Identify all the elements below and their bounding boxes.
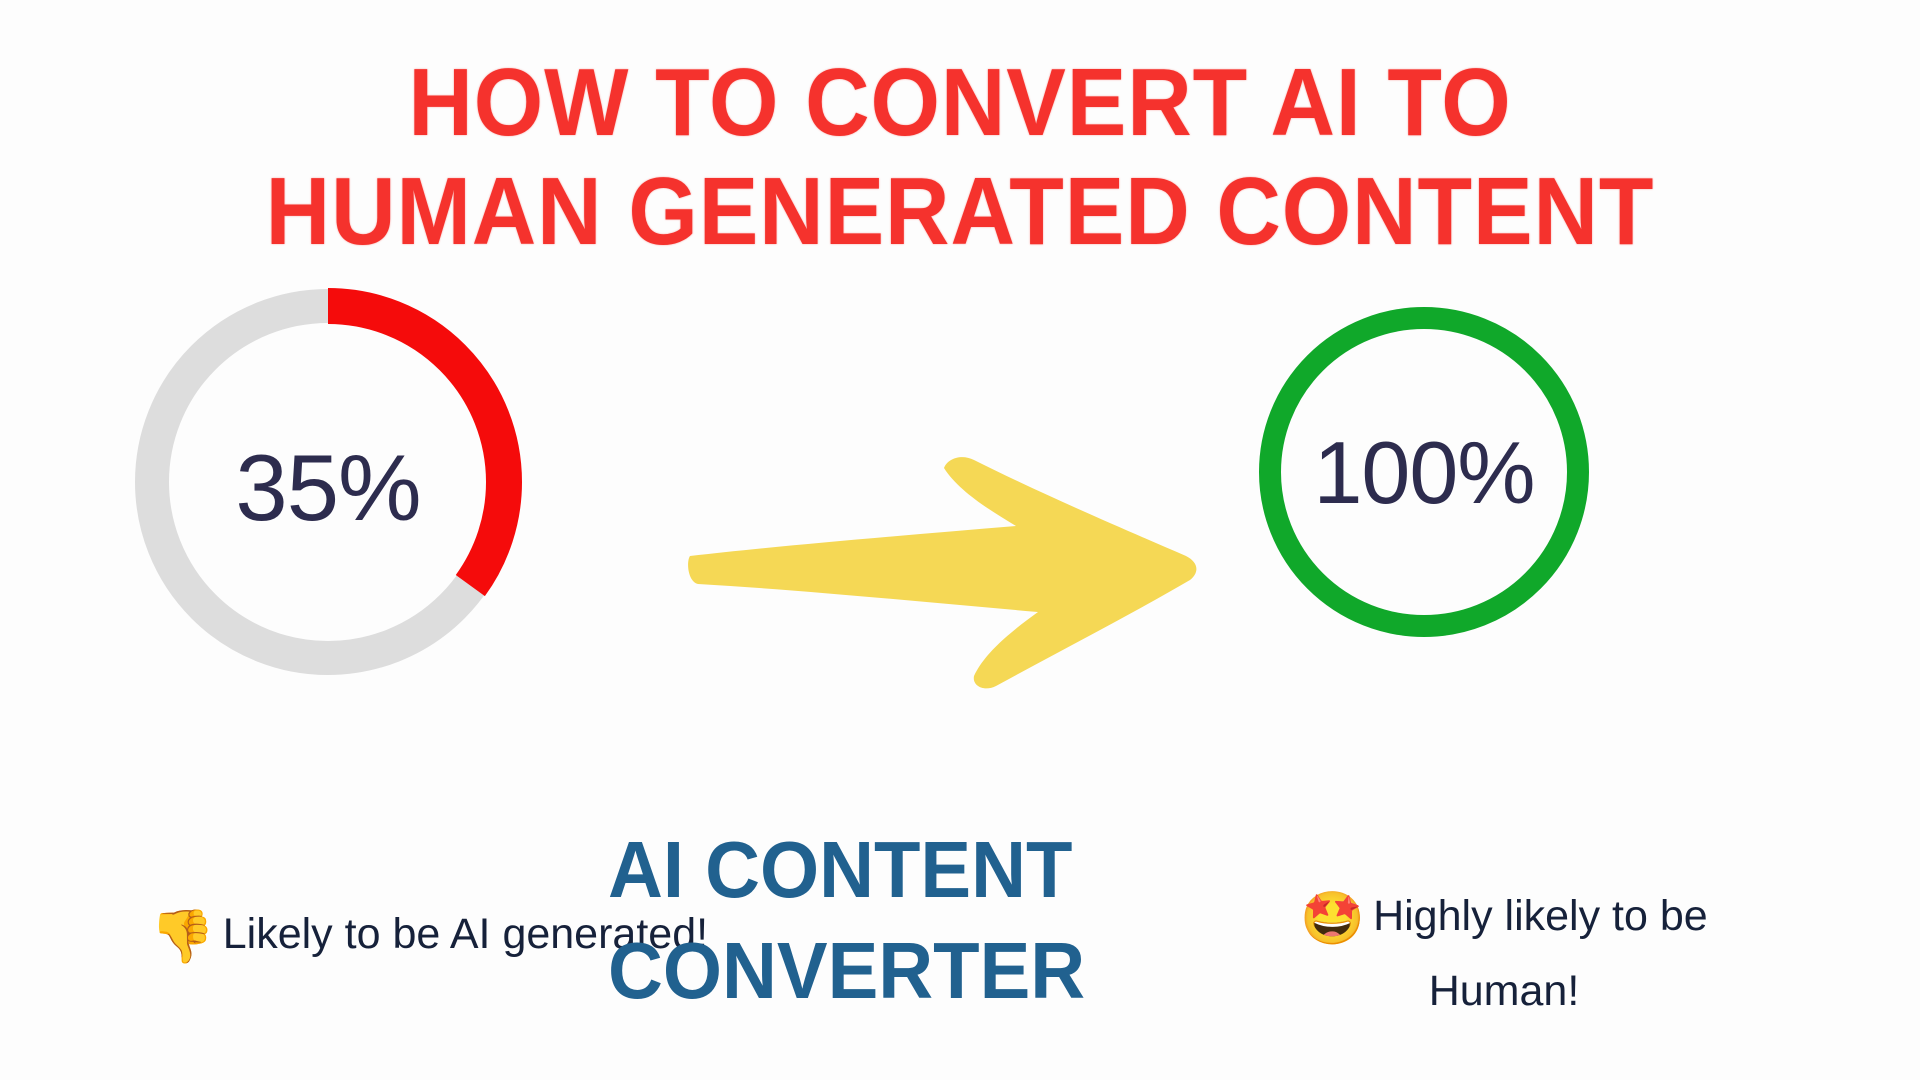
headline-line-2: HUMAN GENERATED CONTENT [67,157,1853,266]
brand-wordmark: AI CONTENT CONVERTER [608,820,1197,1022]
ai-score-caption-line-1: Likely to be AI [223,910,491,958]
arrow-right-icon [686,438,1216,698]
human-score-caption-line-1: Highly likely to be [1373,892,1708,940]
arrow-shape [688,457,1196,688]
conversion-arrow [686,438,1216,698]
human-score-caption: 🤩Highly likely to be Human! [1194,880,1814,1024]
page-title: HOW TO CONVERT AI TO HUMAN GENERATED CON… [67,48,1853,267]
ai-score-value: 35% [128,434,528,542]
infographic-canvas: HOW TO CONVERT AI TO HUMAN GENERATED CON… [0,0,1920,1080]
star-struck-icon: 🤩 [1300,890,1365,948]
headline-line-1: HOW TO CONVERT AI TO [67,48,1853,157]
human-score-value: 100% [1252,422,1596,524]
human-score-caption-line-2: Human! [1194,959,1814,1024]
brand-line-1: AI CONTENT [608,820,1197,921]
thumbs-down-icon: 👎 [150,908,215,966]
ai-score-gauge: 35% [128,282,528,682]
human-score-gauge: 100% [1252,300,1596,644]
brand-line-2: CONVERTER [608,921,1197,1022]
